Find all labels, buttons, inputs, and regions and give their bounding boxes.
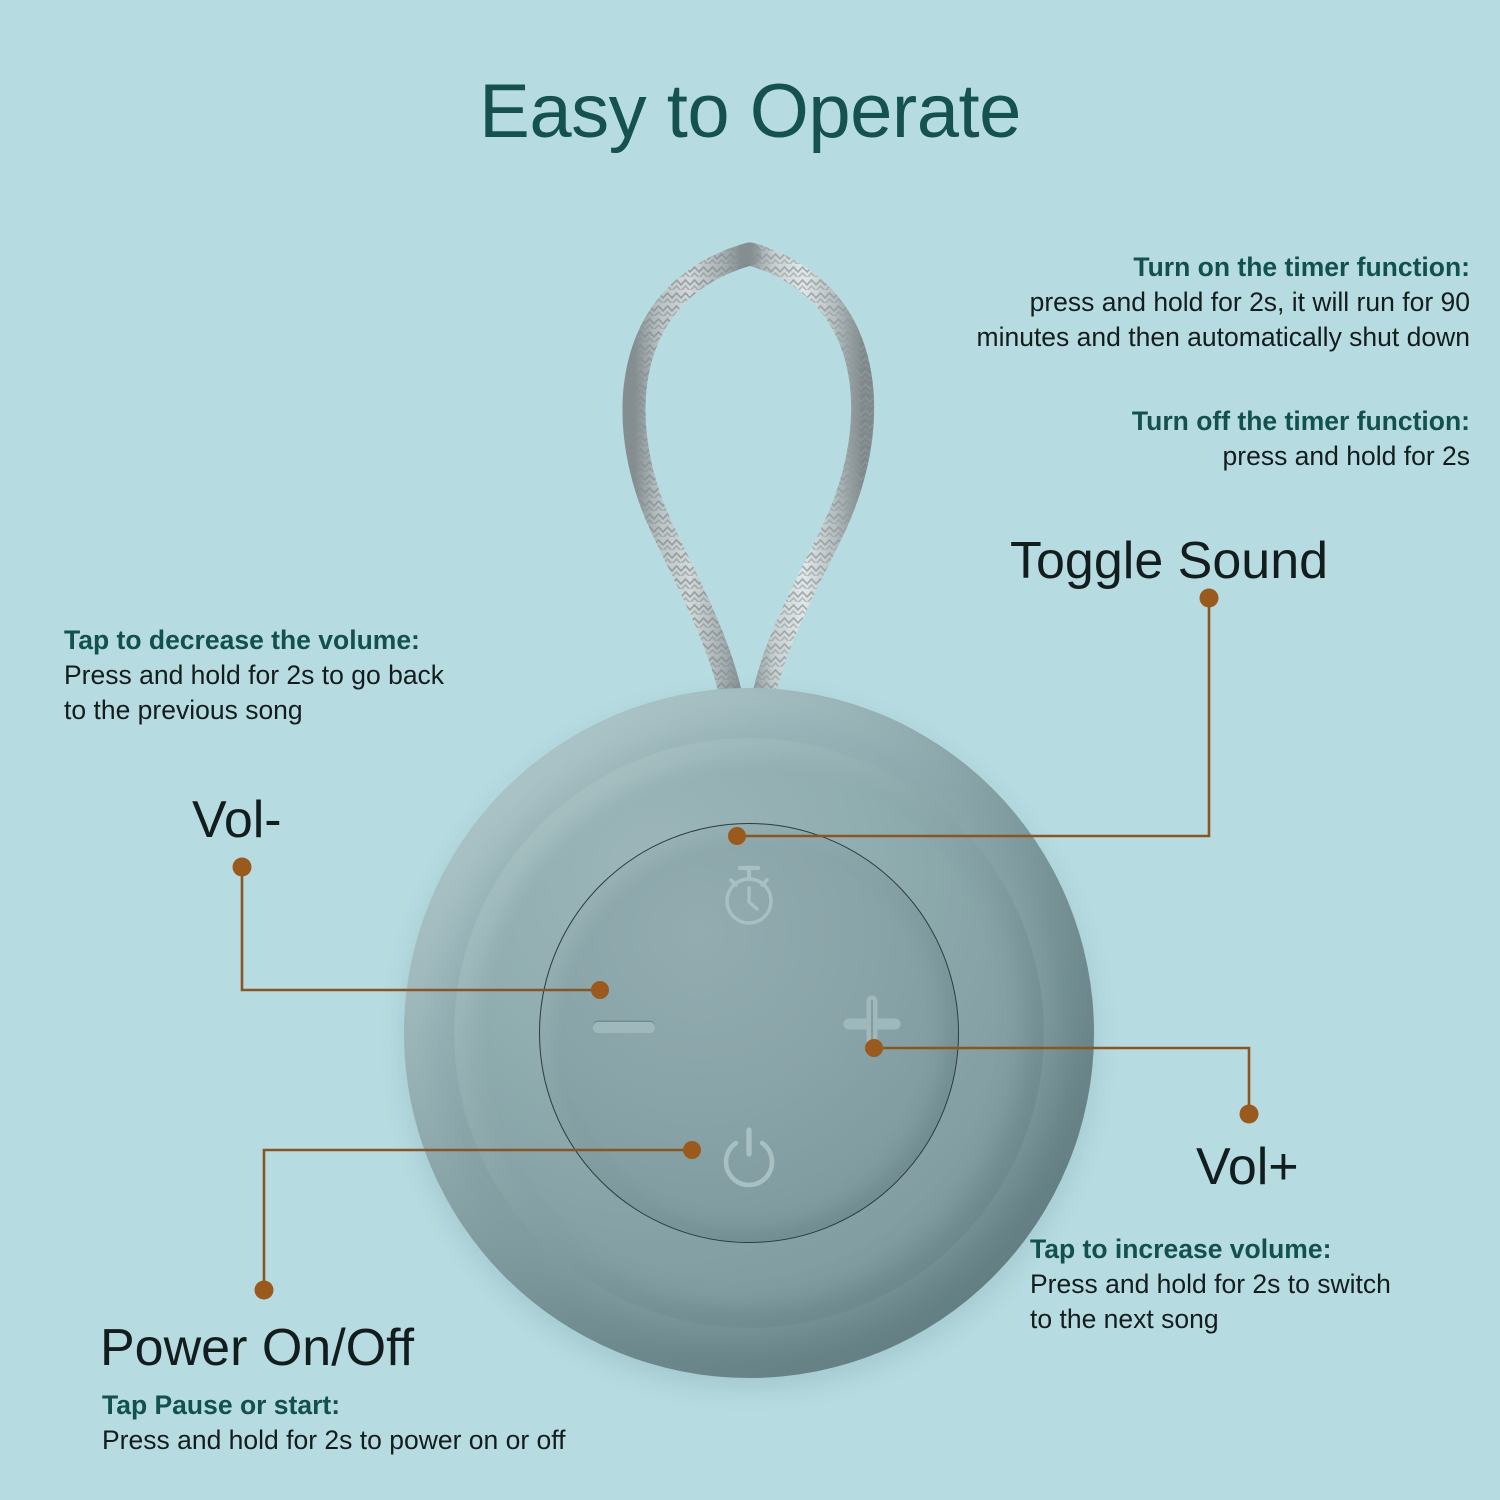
connector-dot-vol-up-label: [1240, 1105, 1259, 1124]
connector-dot-power-button: [683, 1141, 701, 1159]
vol-up-body-line1: Press and hold for 2s to switch: [1030, 1267, 1490, 1302]
timer-off-body: press and hold for 2s: [810, 439, 1470, 474]
vol-up-body-line2: to the next song: [1030, 1302, 1490, 1337]
connector-vol-down: [242, 870, 600, 990]
power-heading: Tap Pause or start:: [102, 1388, 722, 1423]
connector-dot-toggle-sound-label: [1200, 589, 1219, 608]
timer-off-callout: Turn off the timer function: press and h…: [810, 404, 1470, 474]
connector-dot-power-label: [255, 1281, 274, 1300]
connector-dot-minus-button: [591, 981, 609, 999]
infographic-canvas: Easy to Operate: [0, 0, 1500, 1500]
vol-down-label: Vol-: [192, 790, 282, 850]
connector-dot-vol-down-label: [233, 858, 252, 877]
power-label: Power On/Off: [100, 1318, 414, 1378]
toggle-sound-label: Toggle Sound: [1010, 531, 1328, 591]
power-callout: Tap Pause or start: Press and hold for 2…: [102, 1388, 722, 1458]
connector-power: [264, 1150, 692, 1286]
vol-down-body-line2: to the previous song: [64, 693, 624, 728]
vol-down-callout: Tap to decrease the volume: Press and ho…: [64, 623, 624, 728]
connector-dot-timer-button: [728, 827, 746, 845]
connector-dot-plus-button: [865, 1039, 883, 1057]
timer-off-heading: Turn off the timer function:: [810, 404, 1470, 439]
vol-down-body-line1: Press and hold for 2s to go back: [64, 658, 624, 693]
vol-up-label: Vol+: [1196, 1137, 1299, 1197]
vol-down-heading: Tap to decrease the volume:: [64, 623, 624, 658]
vol-up-callout: Tap to increase volume: Press and hold f…: [1030, 1232, 1490, 1337]
timer-on-heading: Turn on the timer function:: [810, 250, 1470, 285]
power-body: Press and hold for 2s to power on or off: [102, 1423, 722, 1458]
timer-on-callout: Turn on the timer function: press and ho…: [810, 250, 1470, 355]
connector-vol-up: [874, 1048, 1249, 1110]
vol-up-heading: Tap to increase volume:: [1030, 1232, 1490, 1267]
connector-toggle-sound: [737, 602, 1209, 836]
timer-on-body-line1: press and hold for 2s, it will run for 9…: [810, 285, 1470, 320]
timer-on-body-line2: minutes and then automatically shut down: [810, 320, 1470, 355]
